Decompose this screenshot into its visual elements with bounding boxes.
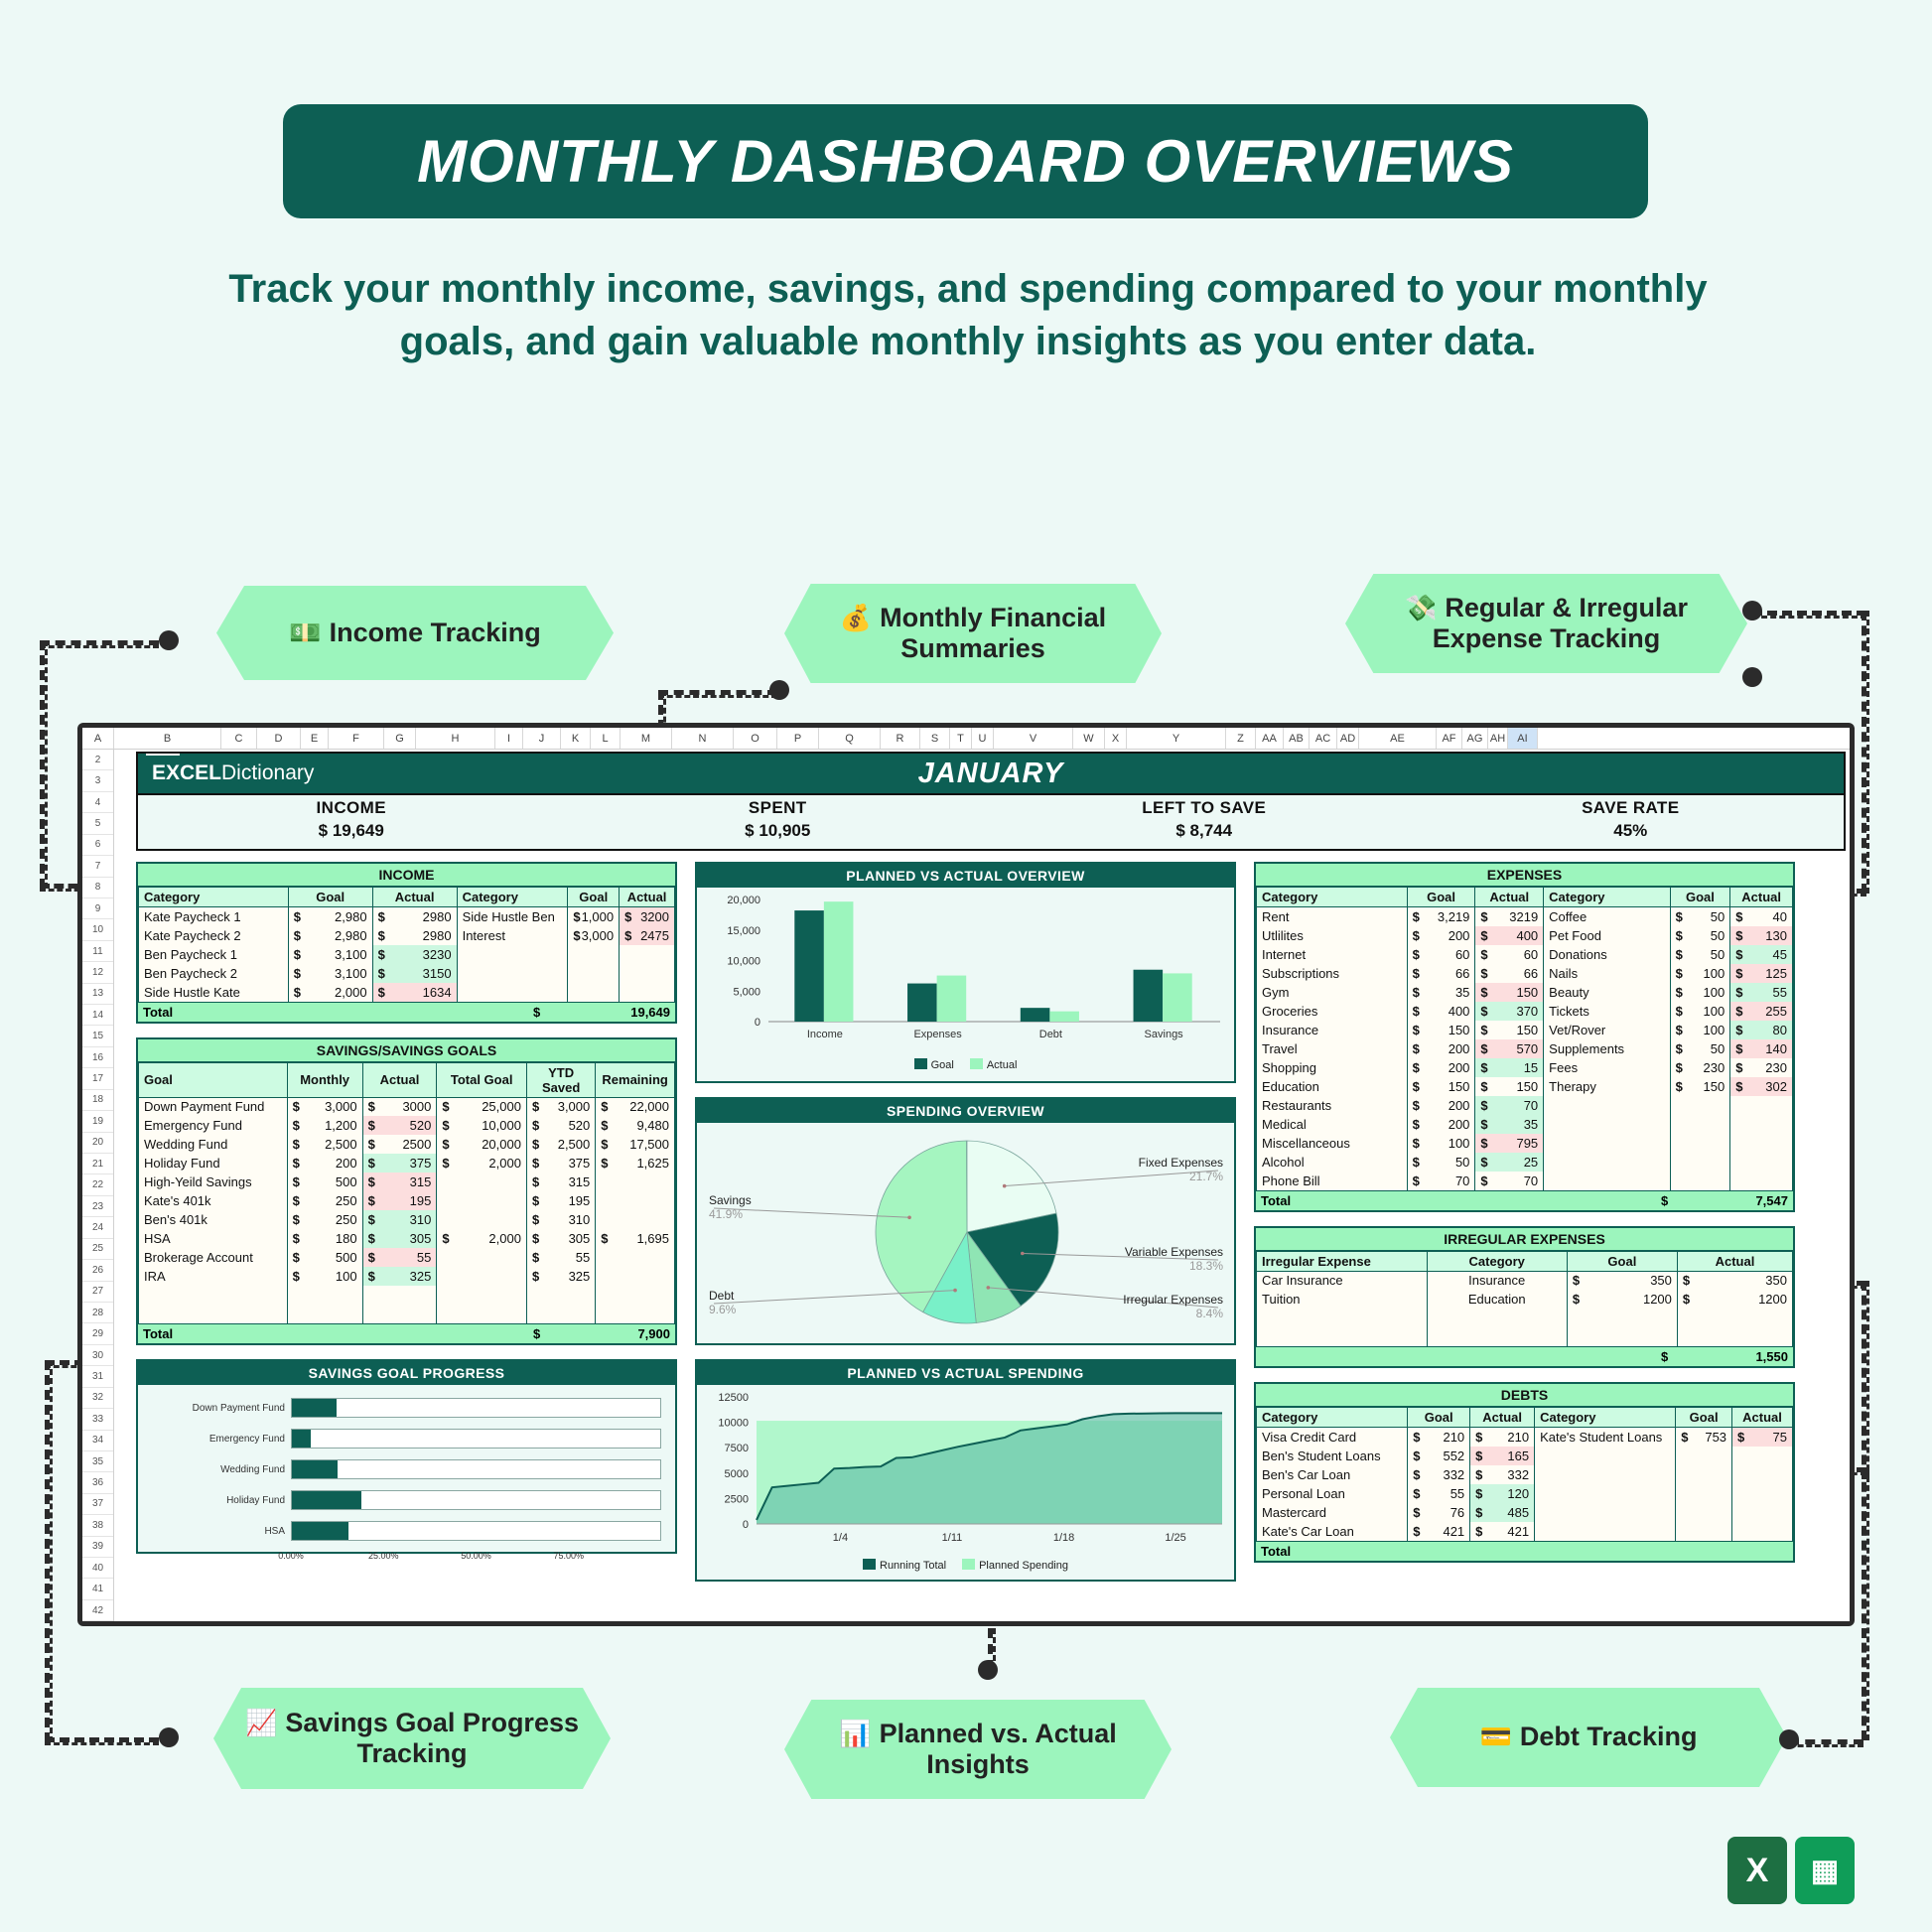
column-header-M[interactable]: M [621,728,672,749]
cell-amount[interactable] [1732,1447,1793,1465]
cell-amount[interactable]: $125 [1730,964,1793,983]
table-row[interactable]: Education$150$150Therapy$150$302 [1257,1077,1793,1096]
cell-amount[interactable] [287,1305,362,1323]
cell-amount[interactable] [1677,1309,1792,1327]
column-header-B[interactable]: B [114,728,221,749]
cell-category[interactable]: Interest [457,926,568,945]
cell-amount[interactable]: $100 [1670,983,1730,1002]
column-header-AD[interactable]: AD [1337,728,1359,749]
cell-amount[interactable] [437,1248,527,1267]
cell-amount[interactable]: $230 [1730,1058,1793,1077]
cell-amount[interactable]: $1200 [1567,1290,1677,1309]
cell-amount[interactable]: $120 [1470,1484,1535,1503]
row-header-5[interactable]: 5 [82,813,113,834]
cell-amount[interactable] [568,983,620,1002]
cell-category[interactable]: Gym [1257,983,1408,1002]
cell-amount[interactable]: $500 [287,1248,362,1267]
cell-amount[interactable] [362,1286,437,1305]
row-header-21[interactable]: 21 [82,1154,113,1174]
column-header-AE[interactable]: AE [1359,728,1437,749]
cell-category[interactable]: Shopping [1257,1058,1408,1077]
cell-amount[interactable]: $200 [1407,1039,1475,1058]
cell-amount[interactable]: $140 [1730,1039,1793,1058]
table-row[interactable]: Gym$35$150Beauty$100$55 [1257,983,1793,1002]
cell-amount[interactable]: $350 [1677,1271,1792,1290]
row-header-29[interactable]: 29 [82,1323,113,1344]
cell-category[interactable]: Emergency Fund [139,1116,288,1135]
table-row[interactable]: Ben Paycheck 1$3,100$3230 [139,945,675,964]
table-row[interactable]: Kate's Car Loan$421$421 [1257,1522,1793,1541]
cell-amount[interactable]: $315 [362,1173,437,1191]
row-header-30[interactable]: 30 [82,1345,113,1366]
cell-amount[interactable]: $200 [1407,926,1475,945]
cell-category[interactable]: Miscellanceous [1257,1134,1408,1153]
cell-amount[interactable]: $150 [1475,1077,1544,1096]
cell-amount[interactable]: $55 [1730,983,1793,1002]
column-header-Y[interactable]: Y [1127,728,1226,749]
cell-amount[interactable] [1676,1447,1732,1465]
cell-amount[interactable]: $1,625 [596,1154,675,1173]
cell-category[interactable] [1427,1327,1567,1346]
cell-amount[interactable]: $370 [1475,1002,1544,1021]
cell-amount[interactable]: $485 [1470,1503,1535,1522]
column-header-O[interactable]: O [734,728,777,749]
table-row[interactable]: Miscellanceous$100$795 [1257,1134,1793,1153]
cell-amount[interactable] [620,983,675,1002]
cell-amount[interactable]: $310 [526,1210,595,1229]
table-row[interactable]: Subscriptions$66$66Nails$100$125 [1257,964,1793,983]
column-header-I[interactable]: I [495,728,523,749]
cell-amount[interactable]: $3150 [372,964,457,983]
table-row[interactable]: Kate Paycheck 1$2,980$2980Side Hustle Be… [139,907,675,926]
cell-amount[interactable]: $76 [1408,1503,1470,1522]
table-row[interactable]: Travel$200$570Supplements$50$140 [1257,1039,1793,1058]
cell-amount[interactable]: $75 [1732,1428,1793,1447]
cell-category[interactable]: Ben Paycheck 1 [139,945,289,964]
row-header-13[interactable]: 13 [82,984,113,1005]
column-header-C[interactable]: C [221,728,257,749]
cell-amount[interactable]: $3219 [1475,907,1544,926]
table-row[interactable]: Down Payment Fund$3,000$3000$25,000$3,00… [139,1097,675,1116]
table-row[interactable]: TuitionEducation$1200$1200 [1257,1290,1793,1309]
cell-amount[interactable]: $325 [362,1267,437,1286]
table-row[interactable]: Ben Paycheck 2$3,100$3150 [139,964,675,983]
table-row[interactable]: IRA$100$325$325 [139,1267,675,1286]
cell-amount[interactable]: $230 [1670,1058,1730,1077]
cell-amount[interactable]: $3,100 [288,945,372,964]
cell-amount[interactable]: $325 [526,1267,595,1286]
cell-category[interactable]: Personal Loan [1257,1484,1408,1503]
cell-category[interactable]: Groceries [1257,1002,1408,1021]
cell-category[interactable]: Holiday Fund [139,1154,288,1173]
table-row[interactable] [1257,1327,1793,1346]
column-header-AI[interactable]: AI [1508,728,1538,749]
row-header-26[interactable]: 26 [82,1260,113,1281]
row-header-17[interactable]: 17 [82,1068,113,1089]
cell-amount[interactable]: $2500 [362,1135,437,1154]
row-header-12[interactable]: 12 [82,962,113,983]
cell-amount[interactable] [596,1191,675,1210]
column-header-X[interactable]: X [1105,728,1127,749]
table-row[interactable] [1257,1309,1793,1327]
cell-amount[interactable]: $210 [1408,1428,1470,1447]
row-header-2[interactable]: 2 [82,750,113,770]
cell-category[interactable] [1535,1465,1676,1484]
cell-amount[interactable] [596,1305,675,1323]
table-row[interactable]: Kate's 401k$250$195$195 [139,1191,675,1210]
cell-amount[interactable]: $60 [1407,945,1475,964]
table-row[interactable] [139,1286,675,1305]
cell-category[interactable]: Wedding Fund [139,1135,288,1154]
table-row[interactable]: High-Yeild Savings$500$315$315 [139,1173,675,1191]
row-header-34[interactable]: 34 [82,1431,113,1451]
column-header-Q[interactable]: Q [819,728,881,749]
cell-amount[interactable]: $520 [526,1116,595,1135]
cell-amount[interactable] [1677,1327,1792,1346]
column-header-T[interactable]: T [950,728,972,749]
cell-amount[interactable]: $150 [1670,1077,1730,1096]
cell-category[interactable]: Alcohol [1257,1153,1408,1172]
table-row[interactable]: Restaurants$200$70 [1257,1096,1793,1115]
cell-category[interactable] [1535,1484,1676,1503]
cell-amount[interactable] [1730,1172,1793,1190]
cell-amount[interactable] [596,1248,675,1267]
cell-amount[interactable]: $35 [1407,983,1475,1002]
row-header-22[interactable]: 22 [82,1174,113,1195]
table-row[interactable]: Personal Loan$55$120 [1257,1484,1793,1503]
cell-category[interactable] [139,1305,288,1323]
cell-amount[interactable]: $375 [526,1154,595,1173]
cell-amount[interactable] [287,1286,362,1305]
row-header-15[interactable]: 15 [82,1026,113,1046]
cell-amount[interactable] [1676,1484,1732,1503]
cell-amount[interactable] [1670,1115,1730,1134]
cell-category[interactable] [1544,1153,1670,1172]
cell-category[interactable]: Mastercard [1257,1503,1408,1522]
cell-amount[interactable]: $180 [287,1229,362,1248]
debts-body[interactable]: Visa Credit Card$210$210Kate's Student L… [1257,1428,1793,1541]
table-row[interactable]: Phone Bill$70$70 [1257,1172,1793,1190]
column-headers[interactable]: ABCDEFGHIJKLMNOPQRSTUVWXYZAAABACADAEAFAG… [82,728,1850,750]
cell-amount[interactable]: $3,000 [287,1097,362,1116]
column-header-A[interactable]: A [82,728,114,749]
cell-category[interactable]: Beauty [1544,983,1670,1002]
table-row[interactable]: Kate Paycheck 2$2,980$2980Interest$3,000… [139,926,675,945]
column-header-J[interactable]: J [523,728,561,749]
google-sheets-icon[interactable]: ▦ [1795,1837,1855,1904]
row-header-7[interactable]: 7 [82,856,113,877]
cell-amount[interactable]: $150 [1475,1021,1544,1039]
table-row[interactable]: Ben's Student Loans$552$165 [1257,1447,1793,1465]
cell-amount[interactable]: $50 [1670,945,1730,964]
expenses-table-body[interactable]: Rent$3,219$3219Coffee$50$40Utlilites$200… [1257,907,1793,1190]
row-header-27[interactable]: 27 [82,1282,113,1303]
cell-amount[interactable]: $500 [287,1173,362,1191]
cell-amount[interactable] [620,945,675,964]
cell-amount[interactable]: $25 [1475,1153,1544,1172]
cell-amount[interactable]: $3,000 [568,926,620,945]
cell-amount[interactable] [1676,1522,1732,1541]
table-row[interactable]: Ben's Car Loan$332$332 [1257,1465,1793,1484]
row-header-4[interactable]: 4 [82,792,113,813]
cell-category[interactable]: Pet Food [1544,926,1670,945]
cell-amount[interactable]: $150 [1407,1021,1475,1039]
cell-amount[interactable] [1730,1115,1793,1134]
cell-amount[interactable]: $2,000 [288,983,372,1002]
cell-amount[interactable] [1732,1484,1793,1503]
income-table[interactable]: CategoryGoalActualCategoryGoalActual Kat… [138,887,675,1002]
cell-amount[interactable]: $753 [1676,1428,1732,1447]
row-header-36[interactable]: 36 [82,1472,113,1493]
cell-amount[interactable] [1567,1309,1677,1327]
cell-amount[interactable] [1670,1153,1730,1172]
cell-amount[interactable]: $55 [1408,1484,1470,1503]
row-header-20[interactable]: 20 [82,1133,113,1154]
cell-category[interactable]: Donations [1544,945,1670,964]
cell-amount[interactable]: $100 [1670,964,1730,983]
cell-amount[interactable]: $350 [1567,1271,1677,1290]
cell-amount[interactable]: $1,695 [596,1229,675,1248]
cell-amount[interactable] [437,1210,527,1229]
cell-category[interactable] [1544,1115,1670,1134]
column-header-AG[interactable]: AG [1462,728,1488,749]
table-row[interactable]: Utlilites$200$400Pet Food$50$130 [1257,926,1793,945]
cell-category[interactable]: Education [1427,1290,1567,1309]
cell-amount[interactable] [1732,1503,1793,1522]
column-header-D[interactable]: D [257,728,301,749]
cell-amount[interactable]: $35 [1475,1115,1544,1134]
cell-amount[interactable]: $2,980 [288,907,372,926]
cell-amount[interactable]: $195 [362,1191,437,1210]
table-row[interactable]: Visa Credit Card$210$210Kate's Student L… [1257,1428,1793,1447]
column-header-W[interactable]: W [1073,728,1105,749]
cell-amount[interactable]: $22,000 [596,1097,675,1116]
table-row[interactable]: Brokerage Account$500$55$55 [139,1248,675,1267]
cell-amount[interactable] [1730,1096,1793,1115]
cell-amount[interactable] [1670,1096,1730,1115]
cell-amount[interactable]: $520 [362,1116,437,1135]
cell-amount[interactable]: $210 [1470,1428,1535,1447]
table-row[interactable]: Medical$200$35 [1257,1115,1793,1134]
cell-category[interactable] [1544,1096,1670,1115]
cell-amount[interactable] [437,1173,527,1191]
cell-amount[interactable]: $3,100 [288,964,372,983]
column-header-K[interactable]: K [561,728,591,749]
cell-category[interactable]: Rent [1257,907,1408,926]
cell-amount[interactable] [362,1305,437,1323]
row-header-25[interactable]: 25 [82,1239,113,1260]
cell-category[interactable]: Fees [1544,1058,1670,1077]
cell-amount[interactable] [596,1286,675,1305]
cell-category[interactable] [1535,1503,1676,1522]
cell-category[interactable]: IRA [139,1267,288,1286]
row-header-42[interactable]: 42 [82,1600,113,1621]
cell-amount[interactable]: $25,000 [437,1097,527,1116]
row-header-14[interactable]: 14 [82,1005,113,1026]
cell-category[interactable]: Kate's 401k [139,1191,288,1210]
cell-amount[interactable]: $200 [1407,1096,1475,1115]
cell-amount[interactable] [596,1173,675,1191]
cell-amount[interactable]: $50 [1670,926,1730,945]
cell-amount[interactable]: $70 [1407,1172,1475,1190]
row-header-28[interactable]: 28 [82,1303,113,1323]
cell-category[interactable]: Visa Credit Card [1257,1428,1408,1447]
cell-amount[interactable]: $200 [287,1154,362,1173]
row-header-11[interactable]: 11 [82,941,113,962]
row-header-32[interactable]: 32 [82,1388,113,1409]
table-row[interactable]: Insurance$150$150Vet/Rover$100$80 [1257,1021,1793,1039]
cell-category[interactable] [139,1286,288,1305]
column-header-AH[interactable]: AH [1488,728,1508,749]
cell-amount[interactable]: $2,980 [288,926,372,945]
cell-amount[interactable]: $20,000 [437,1135,527,1154]
cell-category[interactable]: Supplements [1544,1039,1670,1058]
cell-category[interactable]: Medical [1257,1115,1408,1134]
cell-amount[interactable]: $1,000 [568,907,620,926]
cell-category[interactable]: Subscriptions [1257,964,1408,983]
savings-table-body[interactable]: Down Payment Fund$3,000$3000$25,000$3,00… [139,1097,675,1323]
irregular-body[interactable]: Car InsuranceInsurance$350$350TuitionEdu… [1257,1271,1793,1346]
table-row[interactable]: Alcohol$50$25 [1257,1153,1793,1172]
row-header-18[interactable]: 18 [82,1090,113,1111]
table-row[interactable]: Internet$60$60Donations$50$45 [1257,945,1793,964]
cell-amount[interactable]: $55 [526,1248,595,1267]
column-header-U[interactable]: U [972,728,994,749]
cell-amount[interactable]: $310 [362,1210,437,1229]
row-header-41[interactable]: 41 [82,1579,113,1599]
cell-amount[interactable]: $66 [1407,964,1475,983]
cell-category[interactable]: Brokerage Account [139,1248,288,1267]
cell-category[interactable]: Coffee [1544,907,1670,926]
cell-amount[interactable]: $2,000 [437,1154,527,1173]
cell-amount[interactable] [1732,1465,1793,1484]
cell-category[interactable]: Ben's Car Loan [1257,1465,1408,1484]
debts-table[interactable]: CategoryGoalActualCategoryGoalActual Vis… [1256,1407,1793,1541]
column-header-F[interactable]: F [329,728,384,749]
cell-category[interactable] [1257,1309,1428,1327]
row-header-31[interactable]: 31 [82,1366,113,1387]
column-header-G[interactable]: G [384,728,416,749]
cell-amount[interactable] [1730,1153,1793,1172]
table-row[interactable]: Emergency Fund$1,200$520$10,000$520$9,48… [139,1116,675,1135]
cell-amount[interactable] [620,964,675,983]
cell-amount[interactable]: $255 [1730,1002,1793,1021]
cell-amount[interactable]: $150 [1407,1077,1475,1096]
table-row[interactable]: Ben's 401k$250$310$310 [139,1210,675,1229]
column-header-AF[interactable]: AF [1437,728,1462,749]
cell-category[interactable]: Phone Bill [1257,1172,1408,1190]
cell-amount[interactable]: $100 [1670,1021,1730,1039]
row-header-37[interactable]: 37 [82,1494,113,1515]
column-header-S[interactable]: S [920,728,950,749]
cell-amount[interactable]: $200 [1407,1115,1475,1134]
cell-amount[interactable]: $3,219 [1407,907,1475,926]
cell-amount[interactable]: $60 [1475,945,1544,964]
row-header-16[interactable]: 16 [82,1047,113,1068]
cell-amount[interactable] [568,964,620,983]
cell-amount[interactable]: $50 [1670,907,1730,926]
cell-amount[interactable]: $570 [1475,1039,1544,1058]
table-row[interactable]: Groceries$400$370Tickets$100$255 [1257,1002,1793,1021]
cell-amount[interactable]: $15 [1475,1058,1544,1077]
cell-amount[interactable]: $195 [526,1191,595,1210]
row-header-33[interactable]: 33 [82,1409,113,1430]
cell-amount[interactable] [526,1286,595,1305]
cell-amount[interactable] [1730,1134,1793,1153]
cell-amount[interactable] [437,1305,527,1323]
table-row[interactable]: Wedding Fund$2,500$2500$20,000$2,500$17,… [139,1135,675,1154]
cell-category[interactable] [1257,1327,1428,1346]
cell-category[interactable]: Tickets [1544,1002,1670,1021]
cell-amount[interactable] [596,1267,675,1286]
cell-category[interactable]: Education [1257,1077,1408,1096]
cell-amount[interactable]: $332 [1408,1465,1470,1484]
cell-category[interactable] [1535,1522,1676,1541]
cell-amount[interactable]: $1,200 [287,1116,362,1135]
cell-category[interactable] [1544,1172,1670,1190]
cell-amount[interactable]: $40 [1730,907,1793,926]
cell-amount[interactable]: $552 [1408,1447,1470,1465]
row-header-24[interactable]: 24 [82,1217,113,1238]
cell-amount[interactable]: $1200 [1677,1290,1792,1309]
cell-amount[interactable]: $50 [1407,1153,1475,1172]
cell-category[interactable]: Kate's Car Loan [1257,1522,1408,1541]
cell-category[interactable]: Insurance [1257,1021,1408,1039]
cell-category[interactable]: Vet/Rover [1544,1021,1670,1039]
cell-amount[interactable]: $165 [1470,1447,1535,1465]
cell-category[interactable]: Tuition [1257,1290,1428,1309]
row-header-39[interactable]: 39 [82,1537,113,1558]
income-table-body[interactable]: Kate Paycheck 1$2,980$2980Side Hustle Be… [139,907,675,1002]
cell-amount[interactable] [1670,1172,1730,1190]
expenses-table[interactable]: CategoryGoalActualCategoryGoalActual Ren… [1256,887,1793,1190]
cell-amount[interactable]: $3,000 [526,1097,595,1116]
cell-category[interactable]: Internet [1257,945,1408,964]
cell-category[interactable]: Ben's 401k [139,1210,288,1229]
cell-amount[interactable]: $100 [1670,1002,1730,1021]
cell-amount[interactable]: $1634 [372,983,457,1002]
cell-amount[interactable]: $70 [1475,1172,1544,1190]
table-row[interactable]: HSA$180$305$2,000$305$1,695 [139,1229,675,1248]
column-header-AB[interactable]: AB [1284,728,1310,749]
cell-amount[interactable]: $200 [1407,1058,1475,1077]
column-header-R[interactable]: R [881,728,920,749]
cell-amount[interactable]: $130 [1730,926,1793,945]
excel-icon[interactable]: X [1727,1837,1787,1904]
cell-amount[interactable]: $2475 [620,926,675,945]
cell-category[interactable]: Travel [1257,1039,1408,1058]
cell-category[interactable]: Side Hustle Ben [457,907,568,926]
cell-amount[interactable] [1567,1327,1677,1346]
column-header-E[interactable]: E [301,728,329,749]
cell-category[interactable]: Insurance [1427,1271,1567,1290]
cell-amount[interactable]: $80 [1730,1021,1793,1039]
table-row[interactable]: Rent$3,219$3219Coffee$50$40 [1257,907,1793,926]
cell-amount[interactable] [437,1267,527,1286]
row-header-19[interactable]: 19 [82,1111,113,1132]
cell-category[interactable] [1535,1447,1676,1465]
cell-amount[interactable]: $305 [526,1229,595,1248]
cell-amount[interactable]: $400 [1407,1002,1475,1021]
cell-amount[interactable]: $332 [1470,1465,1535,1484]
cell-amount[interactable] [1732,1522,1793,1541]
column-header-L[interactable]: L [591,728,621,749]
column-header-AA[interactable]: AA [1256,728,1284,749]
cell-category[interactable]: Ben Paycheck 2 [139,964,289,983]
cell-amount[interactable]: $250 [287,1210,362,1229]
cell-amount[interactable]: $50 [1670,1039,1730,1058]
cell-category[interactable] [1427,1309,1567,1327]
